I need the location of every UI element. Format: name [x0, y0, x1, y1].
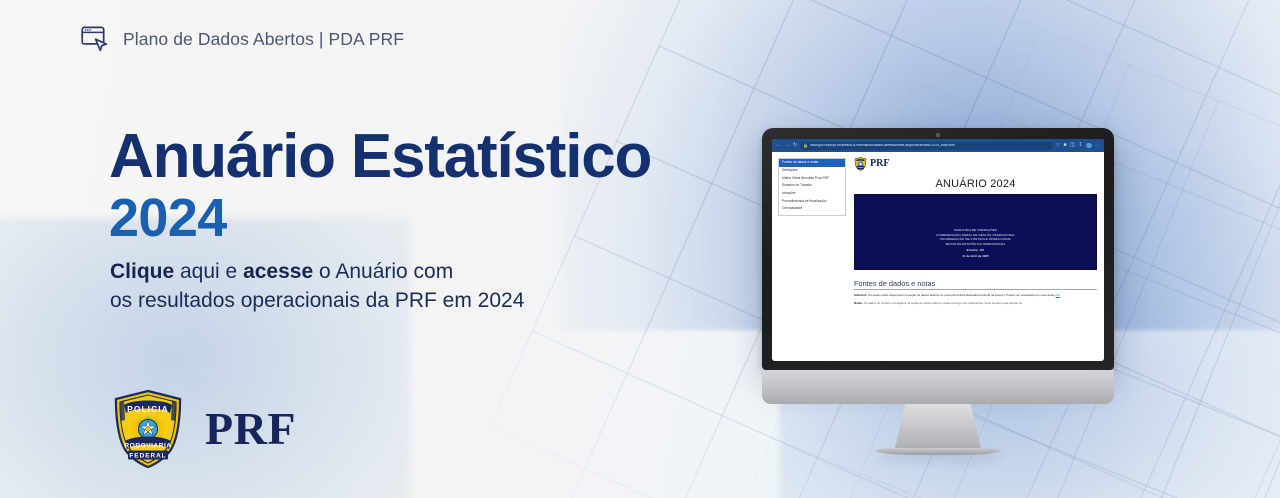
svg-text:POLICIA: POLICIA — [127, 404, 169, 414]
forward-arrow-icon[interactable]: → — [785, 143, 790, 148]
monitor-mockup: ← → ↻ 🔒 www.gov.br/prf/pt-br/acesso-a-in… — [762, 128, 1114, 455]
paragraph-label-sinistros: Sinistros: — [854, 293, 867, 297]
page-section-title: Fontes de dados e notas — [854, 279, 1097, 290]
pda-prf-banner: Plano de Dados Abertos | PDA PRF Anuário… — [0, 0, 1280, 498]
monitor-stand-neck — [895, 404, 981, 448]
svg-text:RODOVIARIA: RODOVIARIA — [124, 443, 171, 450]
browser-toolbar: ← → ↻ 🔒 www.gov.br/prf/pt-br/acesso-a-in… — [772, 139, 1104, 152]
prf-logo-lockup: POLICIA RODOVIARIA FEDERAL PRF — [110, 389, 296, 469]
extensions-icon[interactable]: ■ — [1064, 143, 1067, 148]
paragraph-text-sinistros: Os dados estão disponíveis na seção de d… — [867, 293, 1055, 297]
cover-line-setor: SETOR DE ESTATÍSTICA OPERACIONAL — [945, 242, 1005, 247]
cover-city: Brasília - DF — [967, 249, 985, 253]
profile-avatar-icon[interactable] — [1086, 143, 1092, 149]
download-icon[interactable]: ↧ — [1078, 143, 1082, 148]
subtitle-line2: os resultados operacionais da PRF em 202… — [110, 289, 524, 312]
monitor-chin — [762, 370, 1114, 404]
page-prf-badge-icon — [854, 157, 867, 171]
browser-window-cursor-icon — [80, 24, 110, 54]
page-paragraph-sinistros: Sinistros: Os dados estão disponíveis na… — [854, 293, 1097, 297]
paragraph-label-notas: Notas: — [854, 301, 863, 305]
pda-header-label: Plano de Dados Abertos | PDA PRF — [123, 29, 404, 50]
reload-icon[interactable]: ↻ — [793, 143, 797, 148]
subtitle-bold-clique: Clique — [110, 260, 174, 283]
page-prf-wordmark: PRF — [870, 159, 889, 169]
sidebar-item-definicoes[interactable]: Definições — [779, 167, 845, 175]
page-sidebar-nav: Fontes de dados e notas Definições Malha… — [778, 158, 846, 216]
sidebar-item-criminalidade[interactable]: Criminalidade — [779, 205, 845, 213]
prf-wordmark: PRF — [205, 406, 296, 452]
back-arrow-icon[interactable]: ← — [776, 143, 781, 148]
page-title-year: 2024 — [109, 189, 651, 247]
kebab-menu-icon[interactable]: ⋮ — [1095, 143, 1100, 148]
browser-url-text: www.gov.br/prf/pt-br/acesso-a-informacao… — [810, 144, 954, 147]
monitor-stand-base — [876, 448, 1000, 455]
prf-badge-icon: POLICIA RODOVIARIA FEDERAL — [110, 389, 186, 469]
sidebar-item-infracoes[interactable]: Infrações — [779, 190, 845, 198]
sidebar-item-procedimentos[interactable]: Procedimentos de fiscalização — [779, 197, 845, 205]
page-heading: ANUÁRIO 2024 — [854, 178, 1097, 190]
page-title-line1: Anuário Estatístico — [109, 125, 651, 189]
sidebar-item-malha-viaria[interactable]: Malha Viária Atendida Pela PRF — [779, 174, 845, 182]
svg-text:FEDERAL: FEDERAL — [129, 452, 166, 459]
cover-date: 11 de abril de 2025 — [962, 255, 989, 259]
subtitle-bold-acesse: acesse — [243, 260, 313, 283]
pda-header: Plano de Dados Abertos | PDA PRF — [80, 24, 404, 54]
page-paragraph-notas: Notas: Os dados de sinistros divulgados … — [854, 301, 1097, 305]
web-page-content: Fontes de dados e notas Definições Malha… — [772, 152, 1104, 361]
lock-icon: 🔒 — [803, 144, 808, 148]
subtitle-mid1: aqui e — [174, 260, 243, 283]
page-cover-block: DIRETORIA DE OPERAÇÕES COORDENAÇÃO-GERAL… — [854, 194, 1097, 270]
webcam-icon — [936, 133, 940, 137]
page-title: Anuário Estatístico 2024 — [109, 125, 651, 247]
browser-nav-controls: ← → ↻ — [776, 143, 797, 148]
monitor-bezel: ← → ↻ 🔒 www.gov.br/prf/pt-br/acesso-a-in… — [762, 128, 1114, 370]
page-prf-lockup: PRF — [854, 157, 1097, 171]
page-main-column: PRF ANUÁRIO 2024 DIRETORIA DE OPERAÇÕES … — [846, 152, 1104, 361]
browser-action-icons: ☆ ■ ◫ ↧ ⋮ — [1056, 143, 1100, 149]
browser-address-bar[interactable]: 🔒 www.gov.br/prf/pt-br/acesso-a-informac… — [800, 142, 1052, 150]
subtitle: Clique aqui e acesse o Anuário com os re… — [110, 258, 524, 315]
subtitle-mid2: o Anuário com — [313, 260, 453, 283]
monitor-screen: ← → ↻ 🔒 www.gov.br/prf/pt-br/acesso-a-in… — [772, 139, 1104, 361]
paragraph-link-sinistros[interactable]: link — [1056, 293, 1060, 297]
sidebar-item-sinistros[interactable]: Sinistros de Trânsito — [779, 182, 845, 190]
split-view-icon[interactable]: ◫ — [1070, 143, 1075, 148]
sidebar-item-fontes[interactable]: Fontes de dados e notas — [779, 159, 845, 167]
bookmark-star-icon[interactable]: ☆ — [1056, 143, 1060, 148]
paragraph-text-notas: Os dados de sinistros divulgados na seçã… — [863, 301, 1022, 305]
